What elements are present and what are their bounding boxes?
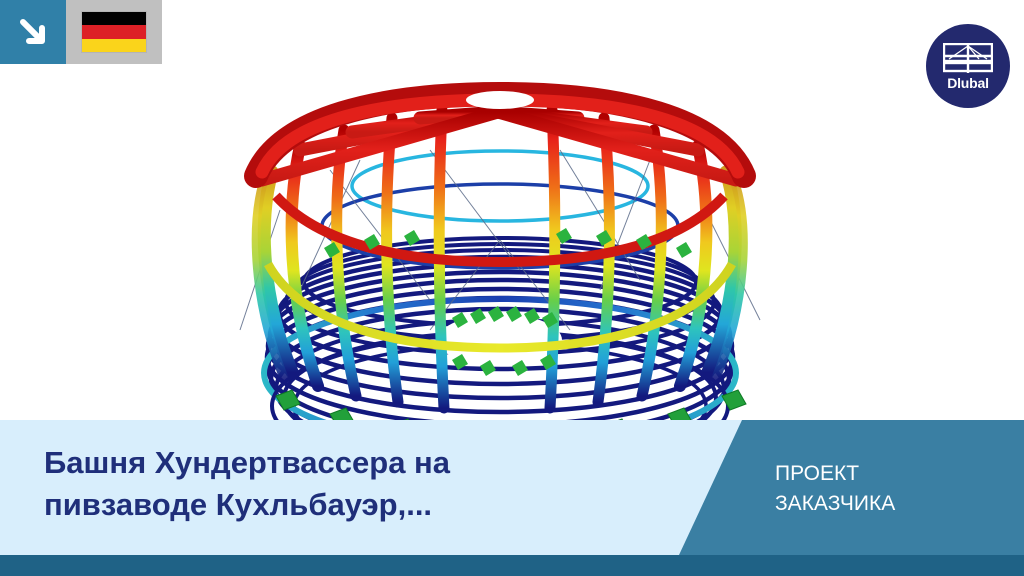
arrow-down-right-icon: [16, 15, 50, 49]
truss-frame-icon: [943, 43, 993, 73]
banner-bottom-strip: [0, 555, 1024, 576]
category-tag: ПРОЕКТ ЗАКАЗЧИКА: [775, 459, 895, 519]
flag-band-red: [82, 25, 146, 38]
project-title: Башня Хундертвассера на пивзаводе Кухльб…: [44, 442, 664, 527]
project-title-line-2: пивзаводе Кухльбауэр,...: [44, 484, 664, 526]
flag-band-black: [82, 12, 146, 25]
german-flag-tile: [66, 0, 162, 64]
bottom-banner: Башня Хундертвассера на пивзаводе Кухльб…: [0, 420, 1024, 576]
project-title-line-1: Башня Хундертвассера на: [44, 442, 664, 484]
arrow-down-right-tile[interactable]: [0, 0, 66, 64]
structural-dome-model: [0, 0, 1024, 432]
header-badges: [0, 0, 162, 64]
category-tag-line-2: ЗАКАЗЧИКА: [775, 489, 895, 519]
dlubal-logo-text: Dlubal: [947, 76, 989, 90]
slide-canvas: Dlubal Башня Хундертвассера на пивзаводе…: [0, 0, 1024, 576]
flag-band-gold: [82, 39, 146, 52]
german-flag-icon: [82, 12, 146, 52]
category-tag-line-1: ПРОЕКТ: [775, 459, 895, 489]
dlubal-logo[interactable]: Dlubal: [926, 24, 1010, 108]
